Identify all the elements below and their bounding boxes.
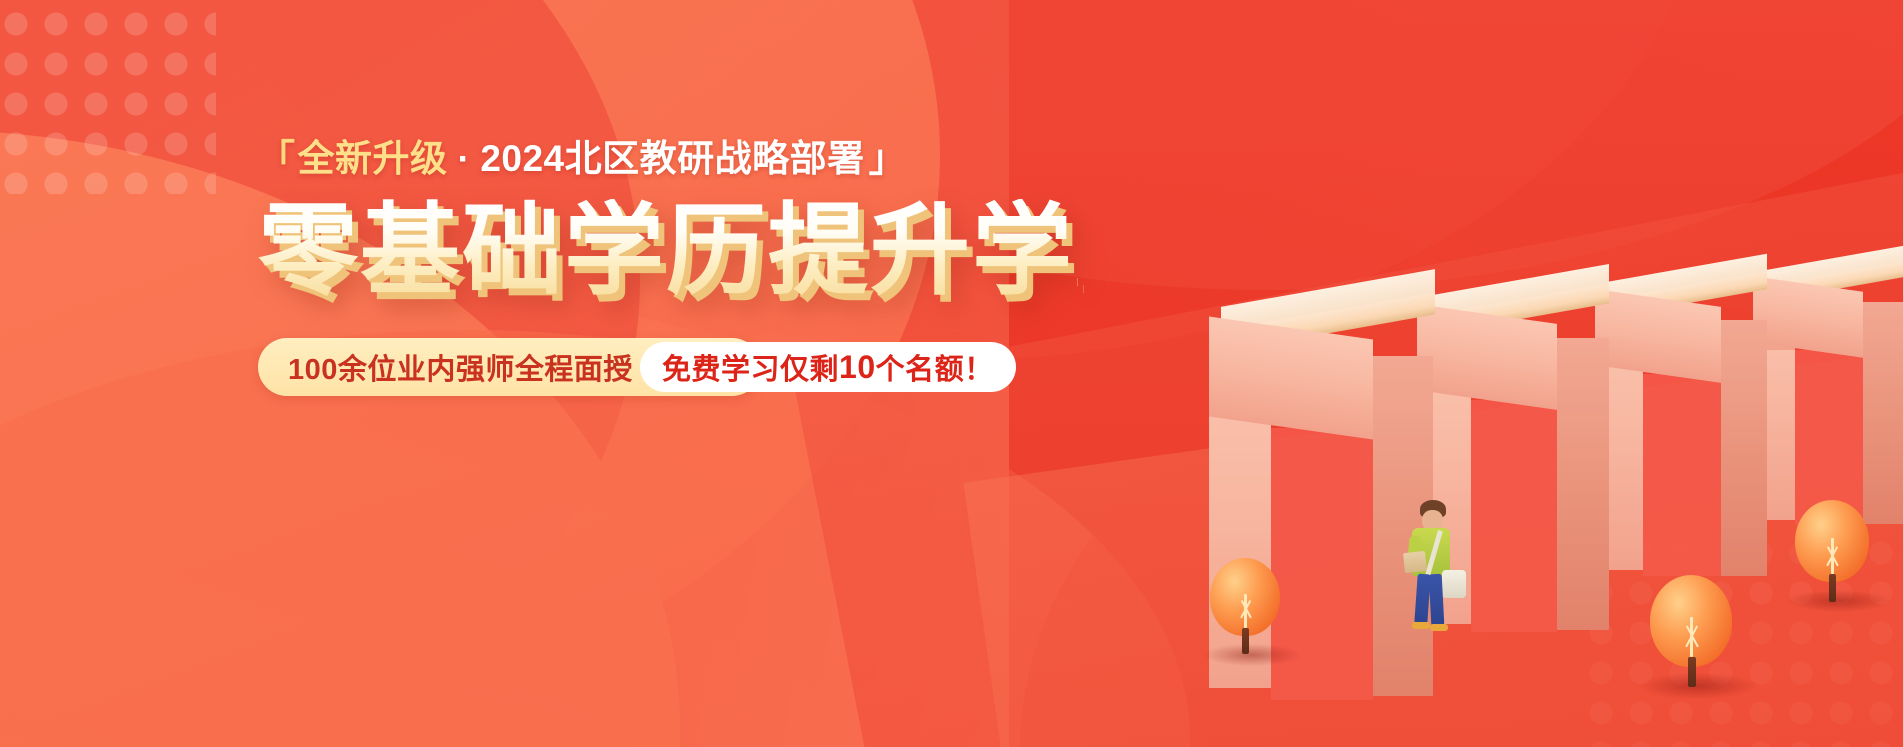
bracket-close-glyph: 」	[869, 138, 907, 179]
tree-illustration	[1795, 500, 1871, 614]
subtitle-separator: ·	[458, 138, 471, 179]
free-seats-prefix: 免费学习仅剩	[662, 346, 839, 388]
free-seats-badge[interactable]: 免费学习仅剩10个名额！	[640, 342, 1016, 392]
tree-illustration	[1650, 575, 1734, 701]
subtitle-highlight: 全新升级	[298, 138, 448, 179]
free-seats-count: 10	[839, 349, 876, 386]
teachers-badge-label: 100余位业内强师全程面授	[288, 346, 633, 388]
bracket-open-glyph: 「	[258, 138, 296, 179]
book-arch-shape	[1585, 268, 1770, 613]
tree-illustration	[1210, 558, 1282, 668]
banner-badge-group: 100余位业内强师全程面授 免费学习仅剩10个名额！	[258, 338, 1078, 396]
student-figure-illustration	[1398, 500, 1478, 630]
promo-banner: 「全新升级·2024北区教研战略部署」 零基础学历提升学霸班 100余位业内强师…	[0, 0, 1903, 747]
banner-headline: 零基础学历提升学霸班	[258, 199, 1078, 304]
free-seats-suffix: 个名额！	[876, 346, 994, 388]
banner-copy-block: 「全新升级·2024北区教研战略部署」 零基础学历提升学霸班 100余位业内强师…	[258, 140, 1078, 396]
subtitle-rest: 2024北区教研战略部署	[480, 138, 864, 179]
banner-subtitle: 「全新升级·2024北区教研战略部署」	[258, 140, 1078, 177]
